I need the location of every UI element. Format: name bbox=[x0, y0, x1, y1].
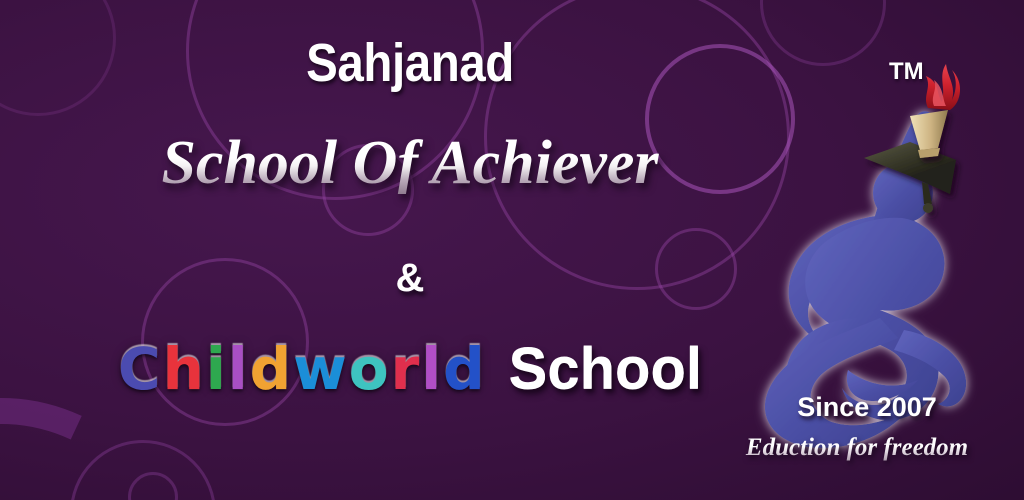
flame-icon bbox=[926, 64, 960, 110]
childworld-letter: l bbox=[228, 340, 250, 398]
decor-ring bbox=[70, 440, 216, 500]
secondary-title: Childworld School bbox=[0, 340, 820, 399]
childworld-letter: d bbox=[443, 340, 487, 398]
conjunction-ampersand: & bbox=[0, 258, 820, 298]
school-banner: Sahjanad School Of Achiever & Childworld… bbox=[0, 0, 1024, 500]
page-title: School Of Achiever bbox=[0, 132, 820, 194]
childworld-letter: h bbox=[163, 340, 206, 398]
childworld-letter: r bbox=[391, 340, 422, 398]
childworld-letter: l bbox=[421, 340, 443, 398]
childworld-letter: w bbox=[293, 340, 349, 398]
childworld-letter: o bbox=[349, 340, 391, 398]
tagline-text: Eduction for freedom bbox=[712, 434, 1002, 462]
childworld-school-word: School bbox=[509, 341, 702, 399]
childworld-letter: i bbox=[206, 340, 228, 398]
trademark-label: TM bbox=[889, 58, 924, 86]
decor-ring bbox=[128, 472, 178, 500]
childworld-letter: C bbox=[118, 340, 163, 398]
established-year-label: Since 2007 bbox=[752, 392, 982, 423]
childworld-colored-word: Childworld bbox=[118, 340, 487, 398]
school-logo: TM Since 2007 Eduction for freedom bbox=[752, 18, 1014, 488]
childworld-letter: d bbox=[250, 340, 294, 398]
banner-prefix-text: Sahjanad bbox=[49, 36, 771, 90]
